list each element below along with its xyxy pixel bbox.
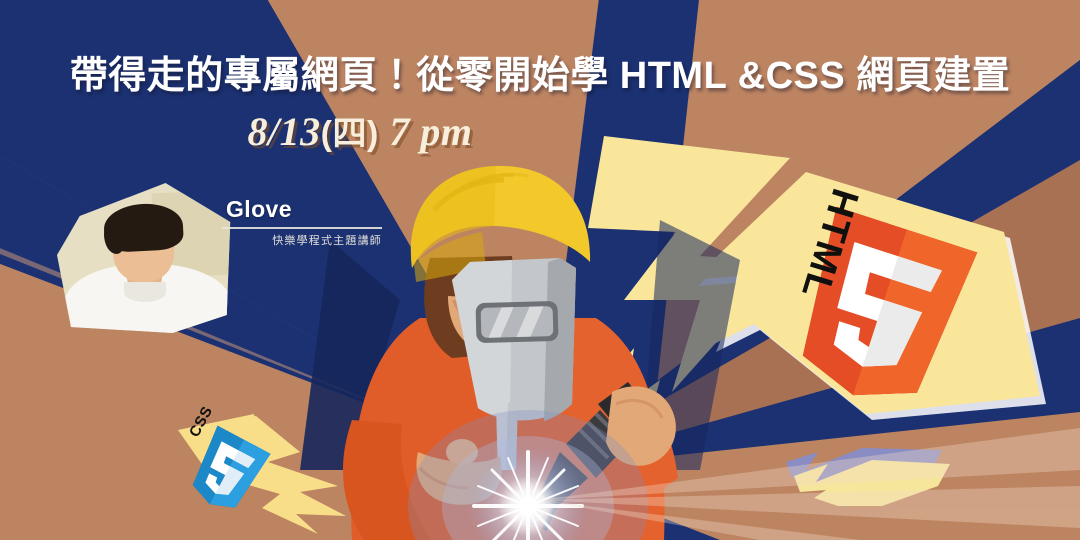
instructor-subtitle: 快樂學程式主題講師	[222, 232, 382, 248]
photo-collar	[124, 282, 166, 302]
event-time: 7 pm	[389, 109, 472, 154]
page-title: 帶得走的專屬網頁！從零開始學 HTML &CSS 網頁建置	[0, 44, 1080, 99]
instructor-info: Glove 快樂學程式主題講師	[222, 196, 382, 248]
event-weekday: (四)	[321, 115, 379, 153]
course-promo-banner: 帶得走的專屬網頁！從零開始學 HTML &CSS 網頁建置 8/13(四) 7 …	[0, 0, 1080, 540]
event-date: 8/13	[248, 109, 321, 154]
event-datetime: 8/13(四) 7 pm	[150, 106, 570, 155]
instructor-name: Glove	[222, 196, 382, 223]
instructor-divider	[222, 227, 382, 229]
photo-hair-side	[104, 221, 125, 254]
